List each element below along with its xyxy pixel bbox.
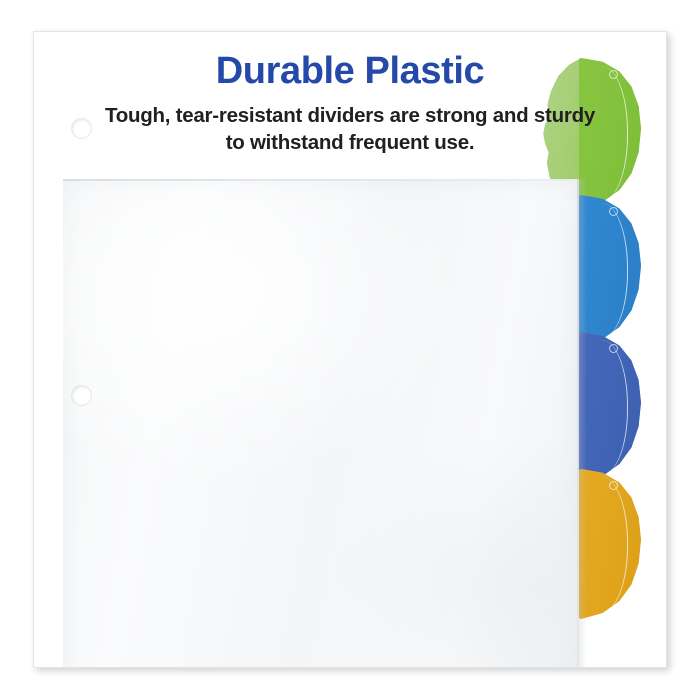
page-subtitle: Tough, tear-resistant dividers are stron… (34, 92, 666, 157)
page-title: Durable Plastic (34, 32, 666, 92)
sheet-top-edge (63, 179, 579, 181)
sheet-sheen-overlay (63, 179, 579, 668)
sheet-right-edge (577, 179, 579, 668)
headline-block: Durable Plastic Tough, tear-resistant di… (34, 32, 666, 157)
plastic-divider-sheet (63, 179, 579, 668)
punch-hole-bottom (72, 386, 91, 405)
product-image-card: Durable Plastic Tough, tear-resistant di… (33, 31, 667, 668)
page-subtitle-line-2: to withstand frequent use. (34, 129, 666, 156)
page-subtitle-line-1: Tough, tear-resistant dividers are stron… (34, 102, 666, 129)
